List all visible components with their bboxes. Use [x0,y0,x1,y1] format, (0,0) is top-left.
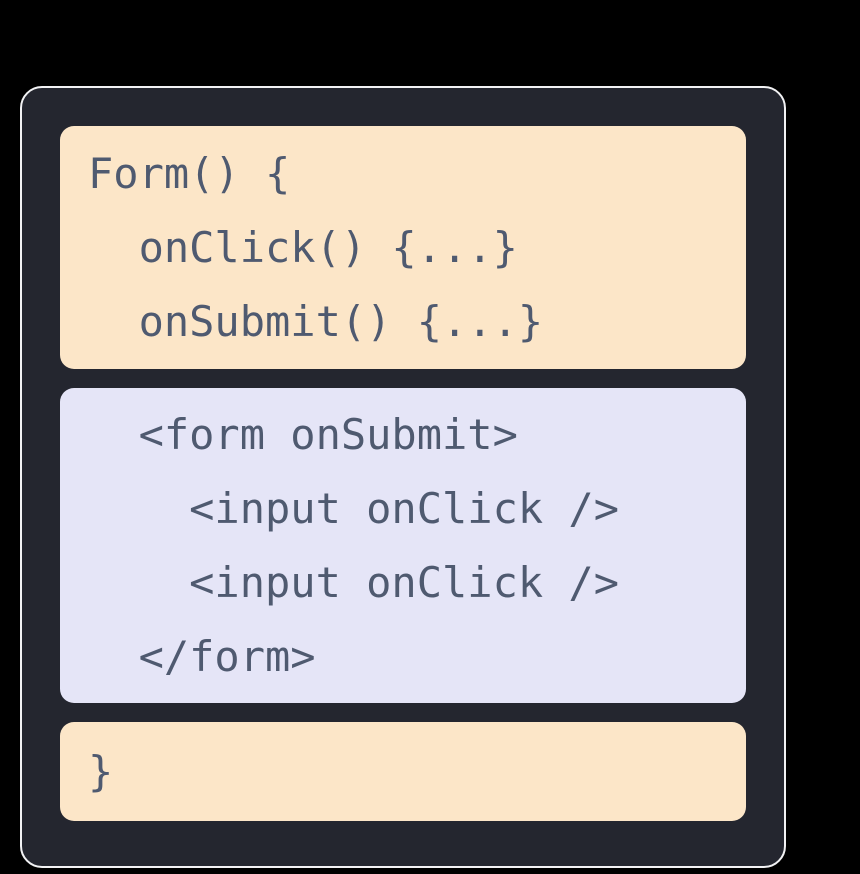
code-line: <form onSubmit> [88,398,718,472]
code-panel-component-scope: Form() { onClick() {...} onSubmit() {...… [60,126,746,369]
code-panel-closing: } [60,722,746,821]
code-line: </form> [88,620,718,694]
code-line: Form() { [88,137,718,211]
code-line: onClick() {...} [88,211,718,285]
code-panel-markup: <form onSubmit> <input onClick /> <input… [60,388,746,703]
code-card: Form() { onClick() {...} onSubmit() {...… [20,86,786,868]
code-line: <input onClick /> [88,472,718,546]
screenshot-canvas: Form() { onClick() {...} onSubmit() {...… [0,0,860,874]
code-line: onSubmit() {...} [88,285,718,359]
code-line: } [88,741,718,803]
code-line: <input onClick /> [88,546,718,620]
